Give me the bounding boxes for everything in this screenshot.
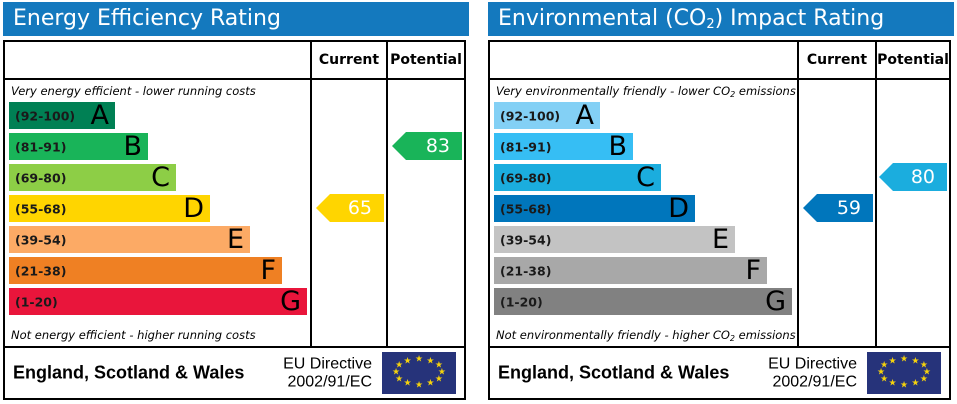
potential-rating-arrow: 80 — [879, 163, 947, 191]
band-d: (55-68) D — [9, 195, 210, 222]
footer-directive-label: EU Directive 2002/91/EC — [768, 355, 857, 390]
band-g-letter: G — [765, 287, 786, 314]
co2-impact-chart: Environmental (CO2) Impact Rating Curren… — [485, 0, 957, 404]
energy-efficiency-chart: Energy Efficiency Rating Current Potenti… — [0, 0, 472, 404]
band-b-range: (81-91) — [500, 139, 551, 154]
column-divider-current — [797, 42, 799, 346]
header-blank — [5, 42, 310, 78]
band-c: (69-80) C — [494, 164, 661, 191]
band-f-range: (21-38) — [15, 263, 66, 278]
band-c: (69-80) C — [9, 164, 176, 191]
band-f: (21-38) F — [494, 257, 767, 284]
band-bars: (92-100) A (81-91) B (69-80) C (55-68) D… — [490, 102, 792, 320]
footer-region-label: England, Scotland & Wales — [498, 363, 729, 384]
table-header-row: Current Potential — [5, 42, 464, 80]
band-b-letter: B — [608, 132, 627, 159]
band-c-range: (69-80) — [500, 170, 551, 185]
caption-bottom-subscript: 2 — [730, 334, 735, 343]
band-f: (21-38) F — [9, 257, 282, 284]
band-a: (92-100) A — [494, 102, 600, 129]
band-a-letter: A — [576, 101, 594, 128]
energy-efficiency-table: Current Potential Very energy efficient … — [3, 40, 466, 400]
caption-top-subscript: 2 — [730, 90, 735, 99]
band-b: (81-91) B — [9, 133, 148, 160]
band-a-range: (92-100) — [500, 108, 560, 123]
caption-bottom-part1: Not environmentally friendly - higher CO — [496, 328, 730, 342]
caption-top: Very environmentally friendly - lower CO… — [490, 80, 797, 102]
potential-rating-arrow: 83 — [392, 132, 462, 160]
footer: England, Scotland & Wales EU Directive 2… — [5, 348, 464, 398]
caption-bottom: Not environmentally friendly - higher CO… — [490, 324, 797, 346]
footer: England, Scotland & Wales EU Directive 2… — [490, 348, 949, 398]
band-e: (39-54) E — [9, 226, 250, 253]
header-blank — [490, 42, 797, 78]
band-d-letter: D — [183, 194, 204, 221]
table-header-row: Current Potential — [490, 42, 949, 80]
epc-charts-page: Energy Efficiency Rating Current Potenti… — [0, 0, 957, 404]
band-d-range: (55-68) — [15, 201, 66, 216]
co2-impact-table: Current Potential Very environmentally f… — [488, 40, 951, 400]
header-current: Current — [799, 42, 875, 78]
directive-line-1: EU Directive — [768, 355, 857, 373]
band-e: (39-54) E — [494, 226, 735, 253]
eu-flag-icon — [382, 352, 456, 394]
current-rating-arrow: 65 — [316, 194, 384, 222]
current-rating-arrow: 59 — [803, 194, 873, 222]
band-g: (1-20) G — [494, 288, 792, 315]
band-c-range: (69-80) — [15, 170, 66, 185]
header-potential: Potential — [388, 42, 464, 78]
band-f-letter: F — [745, 256, 761, 283]
band-a-letter: A — [91, 101, 109, 128]
co2-title-subscript: 2 — [706, 17, 714, 32]
band-g-range: (1-20) — [15, 294, 58, 309]
column-divider-potential — [386, 42, 388, 346]
band-b: (81-91) B — [494, 133, 633, 160]
directive-line-1: EU Directive — [283, 355, 372, 373]
band-g-range: (1-20) — [500, 294, 543, 309]
band-a-range: (92-100) — [15, 108, 75, 123]
caption-bottom-part2: emissions — [735, 328, 796, 342]
band-e-letter: E — [712, 225, 729, 252]
band-g-letter: G — [280, 287, 301, 314]
eu-flag-icon — [867, 352, 941, 394]
band-bars: (92-100) A (81-91) B (69-80) C (55-68) D… — [5, 102, 307, 320]
co2-title-part2: ) Impact Rating — [715, 6, 885, 31]
band-f-range: (21-38) — [500, 263, 551, 278]
co2-title-part1: Environmental (CO — [498, 6, 706, 31]
energy-efficiency-title: Energy Efficiency Rating — [3, 2, 469, 36]
caption-top: Very energy efficient - lower running co… — [5, 80, 310, 102]
band-b-letter: B — [123, 132, 142, 159]
directive-line-2: 2002/91/EC — [283, 373, 372, 391]
directive-line-2: 2002/91/EC — [768, 373, 857, 391]
band-g: (1-20) G — [9, 288, 307, 315]
band-d-range: (55-68) — [500, 201, 551, 216]
caption-top-part1: Very environmentally friendly - lower CO — [496, 84, 730, 98]
band-a: (92-100) A — [9, 102, 115, 129]
band-b-range: (81-91) — [15, 139, 66, 154]
band-c-letter: C — [151, 163, 170, 190]
band-d: (55-68) D — [494, 195, 695, 222]
header-potential: Potential — [877, 42, 949, 78]
footer-region-label: England, Scotland & Wales — [13, 363, 244, 384]
column-divider-potential — [875, 42, 877, 346]
band-e-letter: E — [227, 225, 244, 252]
band-e-range: (39-54) — [500, 232, 551, 247]
band-d-letter: D — [668, 194, 689, 221]
caption-bottom: Not energy efficient - higher running co… — [5, 324, 310, 346]
band-c-letter: C — [636, 163, 655, 190]
footer-directive-label: EU Directive 2002/91/EC — [283, 355, 372, 390]
caption-top-part2: emissions — [735, 84, 796, 98]
band-f-letter: F — [260, 256, 276, 283]
band-e-range: (39-54) — [15, 232, 66, 247]
header-current: Current — [312, 42, 386, 78]
column-divider-current — [310, 42, 312, 346]
co2-impact-title: Environmental (CO2) Impact Rating — [488, 2, 954, 36]
